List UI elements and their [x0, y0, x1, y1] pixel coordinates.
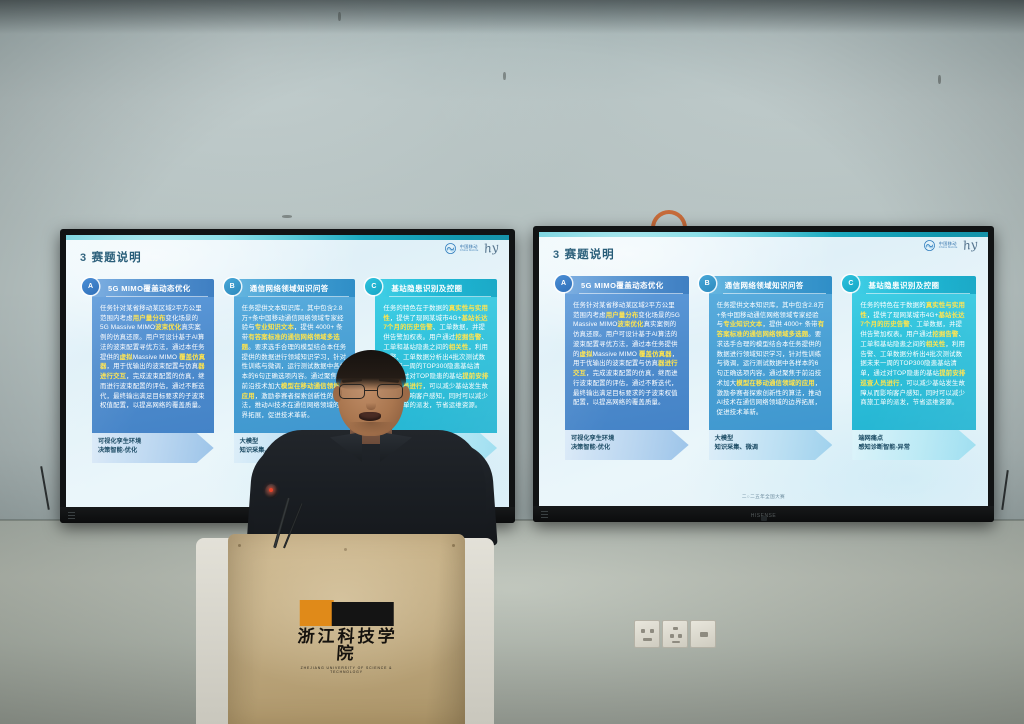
china-mobile-mark-icon — [924, 240, 935, 251]
display-bezel-bottom: HISENSE — [533, 506, 994, 522]
page-title: 赛题说明 — [565, 246, 615, 262]
card-foot-c: 端网痛点感知诊断智能-异常 — [852, 430, 976, 460]
card-header-b: 通信网络领域知识问答 — [709, 276, 833, 294]
slide-section-number: 3 — [80, 252, 87, 264]
card-badge-a: A — [555, 275, 572, 292]
mouth — [359, 412, 381, 421]
power-outlet-plates — [634, 620, 716, 648]
logo-block-orange — [300, 600, 334, 626]
card-b[interactable]: B 通信网络领域知识问答 任务提供文本知识库，其中包含2.8万+条中国移动通信网… — [699, 276, 833, 460]
card-c[interactable]: C 基站隐患识别及控圈 任务的特色在于数据的真实性与实用性，提供了现网某城市4G… — [842, 276, 976, 460]
card-tags-a: 可视化孪生环境决策智能-优化 — [571, 434, 614, 453]
podium-front-panel: 浙江科技学院 ZHEJIANG UNIVERSITY OF SCIENCE & … — [228, 534, 465, 724]
card-body-b: 任务提供文本知识库，其中包含2.8万+条中国移动通信网络领域专家经验与专业知识文… — [709, 294, 833, 430]
card-tags-a: 可视化孪生环境决策智能-优化 — [98, 437, 141, 456]
china-mobile-mark-icon — [445, 243, 456, 254]
right-display[interactable]: 3 赛题说明 中国移动 China Mobile hy A — [533, 226, 994, 522]
china-mobile-logo: 中国移动 China Mobile hy — [924, 238, 978, 252]
card-body-c: 任务的特色在于数据的真实性与实用性，提供了现网某城市4G+基站长达7个月的历史告… — [852, 294, 976, 430]
university-name-en: ZHEJIANG UNIVERSITY OF SCIENCE & TECHNOL… — [287, 666, 406, 674]
card-header-c: 基站隐患识别及控圈 — [852, 276, 976, 294]
china-mobile-wordmark: 中国移动 China Mobile — [939, 242, 958, 249]
card-a[interactable]: A 5G MIMO覆盖动态优化 任务针对某省移动某区域2平方公里范围内考虑用户量… — [555, 276, 689, 460]
slide-header: 3 赛题说明 — [553, 246, 615, 262]
card-header-b: 通信网络领域知识问答 — [234, 279, 356, 297]
china-mobile-wordmark: 中国移动 China Mobile — [460, 245, 479, 252]
lower-wall — [0, 520, 1024, 724]
podium-screw — [452, 544, 455, 547]
cards-row-right: A 5G MIMO覆盖动态优化 任务针对某省移动某区域2平方公里范围内考虑用户量… — [555, 276, 976, 460]
card-a[interactable]: A 5G MIMO覆盖动态优化 任务针对某省移动某区域2平方公里范围内考虑用户量… — [82, 279, 214, 463]
nose — [366, 398, 376, 410]
card-badge-b: B — [699, 275, 716, 292]
card-tags-b: 大模型知识采集、微调 — [715, 434, 758, 453]
university-name-cn: 浙江科技学院 — [286, 629, 407, 663]
slide-accent-bar — [66, 235, 509, 240]
card-foot-a: 可视化孪生环境决策智能-优化 — [565, 430, 689, 460]
slide-accent-bar — [539, 232, 988, 237]
slide-right: 3 赛题说明 中国移动 China Mobile hy A — [539, 232, 988, 506]
outlet-plate — [634, 620, 660, 648]
card-body-a: 任务针对某省移动某区域2平方公里范围内考虑用户量分布变化场景的5G Massiv… — [565, 294, 689, 430]
outlet-plate — [690, 620, 716, 648]
card-foot-a: 可视化孪生环境决策智能-优化 — [92, 433, 214, 463]
podium-screw — [238, 544, 241, 547]
lens-left — [339, 384, 365, 399]
china-mobile-logo: 中国移动 China Mobile hy — [445, 241, 499, 255]
slide-header: 3 赛题说明 — [80, 249, 142, 265]
display-buttons[interactable] — [541, 511, 548, 518]
card-header-c: 基站隐患识别及控圈 — [375, 279, 497, 297]
outlet-plate — [662, 620, 688, 648]
lectern-podium: 浙江科技学院 ZHEJIANG UNIVERSITY OF SCIENCE & … — [196, 534, 494, 724]
glasses-bridge — [365, 390, 377, 391]
slide-section-number: 3 — [553, 249, 560, 261]
page-title: 赛题说明 — [92, 249, 142, 265]
slide-footer: 二○二五年全国大赛 — [742, 494, 785, 500]
university-logo: 浙江科技学院 ZHEJIANG UNIVERSITY OF SCIENCE & … — [287, 600, 406, 674]
logo-blocks — [287, 600, 406, 626]
handwritten-mark: hy — [484, 240, 500, 256]
microphone-led-indicator — [269, 488, 273, 492]
card-badge-a: A — [82, 278, 99, 295]
card-header-a: 5G MIMO覆盖动态优化 — [92, 279, 214, 297]
conference-room-photo: 3 赛题说明 中国移动 China Mobile hy A — [0, 0, 1024, 724]
display-buttons[interactable] — [68, 512, 75, 519]
handwritten-mark: hy — [963, 237, 979, 253]
lens-right — [377, 384, 403, 399]
logo-block-black — [332, 602, 394, 626]
ir-receiver — [761, 516, 767, 521]
podium-screw — [344, 548, 347, 551]
card-body-a: 任务针对某省移动某区域2平方公里范围内考虑用户量分布变化场景的5G Massiv… — [92, 297, 214, 433]
chin-shadow — [348, 422, 394, 434]
card-badge-b: B — [224, 278, 241, 295]
card-tags-c: 端网痛点感知诊断智能-异常 — [858, 434, 910, 453]
card-foot-b: 大模型知识采集、微调 — [709, 430, 833, 460]
card-header-a: 5G MIMO覆盖动态优化 — [565, 276, 689, 294]
